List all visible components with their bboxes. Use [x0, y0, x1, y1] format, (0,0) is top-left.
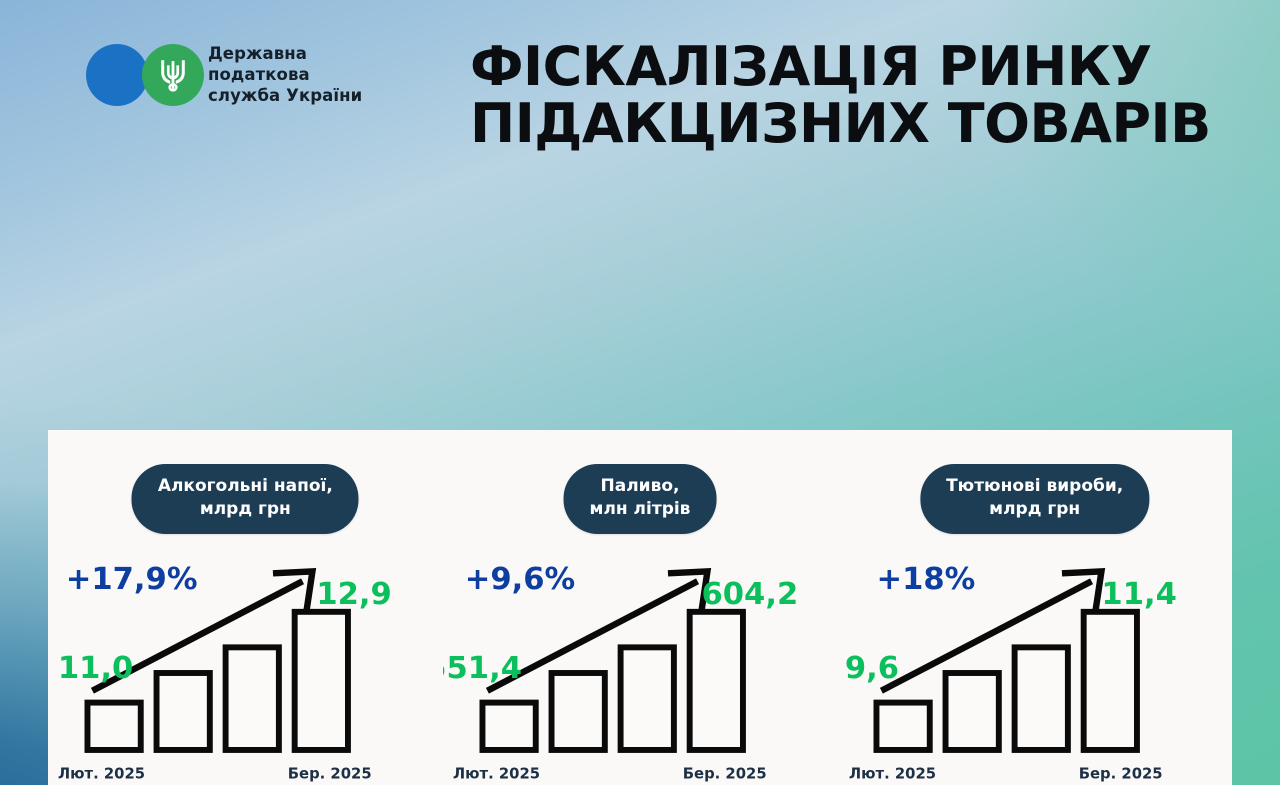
- page-title: ФІСКАЛІЗАЦІЯ РИНКУ ПІДАКЦИЗНИХ ТОВАРІВ: [470, 38, 1210, 152]
- panel-title-line-2: млн літрів: [590, 498, 691, 521]
- growth-percent-label: +18%: [877, 562, 976, 597]
- brand-line-2: податкова: [208, 65, 310, 84]
- panel-title-line-1: Алкогольні напої,: [158, 476, 333, 496]
- infographic-canvas: Державна податкова служба України ФІСКАЛ…: [0, 0, 1280, 785]
- charts-card: Алкогольні напої, млрд грн +17,9: [48, 430, 1232, 785]
- panel-title-line-1: Паливо,: [601, 476, 680, 496]
- brand-name: Державна податкова служба України: [208, 44, 362, 106]
- header: Державна податкова служба України ФІСКАЛ…: [0, 0, 1280, 175]
- growth-percent-label: +17,9%: [66, 562, 198, 597]
- brand-circle-blue-icon: [86, 44, 148, 106]
- bar-2: [157, 673, 210, 750]
- bar-1: [877, 703, 930, 750]
- bar-2: [551, 673, 604, 750]
- bar-3: [1015, 647, 1068, 750]
- bar-3: [620, 647, 673, 750]
- chart-panels: Алкогольні напої, млрд грн +17,9: [48, 430, 1232, 785]
- panel-title-tobacco: Тютюнові вироби, млрд грн: [920, 464, 1149, 534]
- bar-chart-alcohol: +17,9% 11,0 12,9 Лют. 2025 Бер. 2025: [48, 548, 443, 785]
- brand-logo: [86, 44, 198, 106]
- bar-2: [946, 673, 999, 750]
- month-end-label: Бер. 2025: [288, 766, 372, 783]
- start-value-label: 9,6: [845, 651, 899, 686]
- page-title-line-2: ПІДАКЦИЗНИХ ТОВАРІВ: [470, 95, 1210, 152]
- chart-panel-fuel: Паливо, млн літрів +9,6% 551,4 604,2: [443, 430, 838, 785]
- panel-title-fuel: Паливо, млн літрів: [564, 464, 717, 534]
- month-end-label: Бер. 2025: [682, 766, 766, 783]
- bar-chart-fuel: +9,6% 551,4 604,2 Лют. 2025 Бер. 2025: [443, 548, 838, 785]
- chart-panel-tobacco: Тютюнові вироби, млрд грн +18% 9,6 11,4: [837, 430, 1232, 785]
- ukraine-trident-icon: [160, 57, 186, 93]
- panel-title-line-2: млрд грн: [158, 498, 333, 521]
- chart-panel-alcohol: Алкогольні напої, млрд грн +17,9: [48, 430, 443, 785]
- bar-1: [87, 703, 140, 750]
- panel-title-line-2: млрд грн: [946, 498, 1123, 521]
- brand-lockup: Державна податкова служба України: [86, 44, 362, 106]
- panel-title-line-1: Тютюнові вироби,: [946, 476, 1123, 496]
- month-start-label: Лют. 2025: [849, 766, 936, 783]
- end-value-label: 604,2: [701, 577, 798, 612]
- start-value-label: 11,0: [58, 651, 133, 686]
- panel-title-alcohol: Алкогольні напої, млрд грн: [132, 464, 359, 534]
- bar-4: [295, 612, 348, 750]
- brand-line-1: Державна: [208, 44, 307, 63]
- bar-3: [226, 647, 279, 750]
- end-value-label: 11,4: [1102, 577, 1177, 612]
- bar-4: [689, 612, 742, 750]
- month-start-label: Лют. 2025: [453, 766, 540, 783]
- start-value-label: 551,4: [443, 651, 522, 686]
- bar-4: [1084, 612, 1137, 750]
- month-start-label: Лют. 2025: [58, 766, 145, 783]
- brand-line-3: служба України: [208, 86, 362, 105]
- growth-percent-label: +9,6%: [464, 562, 574, 597]
- page-title-line-1: ФІСКАЛІЗАЦІЯ РИНКУ: [470, 38, 1210, 95]
- bar-chart-tobacco: +18% 9,6 11,4 Лют. 2025 Бер. 2025: [837, 548, 1232, 785]
- end-value-label: 12,9: [316, 577, 391, 612]
- bar-1: [482, 703, 535, 750]
- month-end-label: Бер. 2025: [1079, 766, 1163, 783]
